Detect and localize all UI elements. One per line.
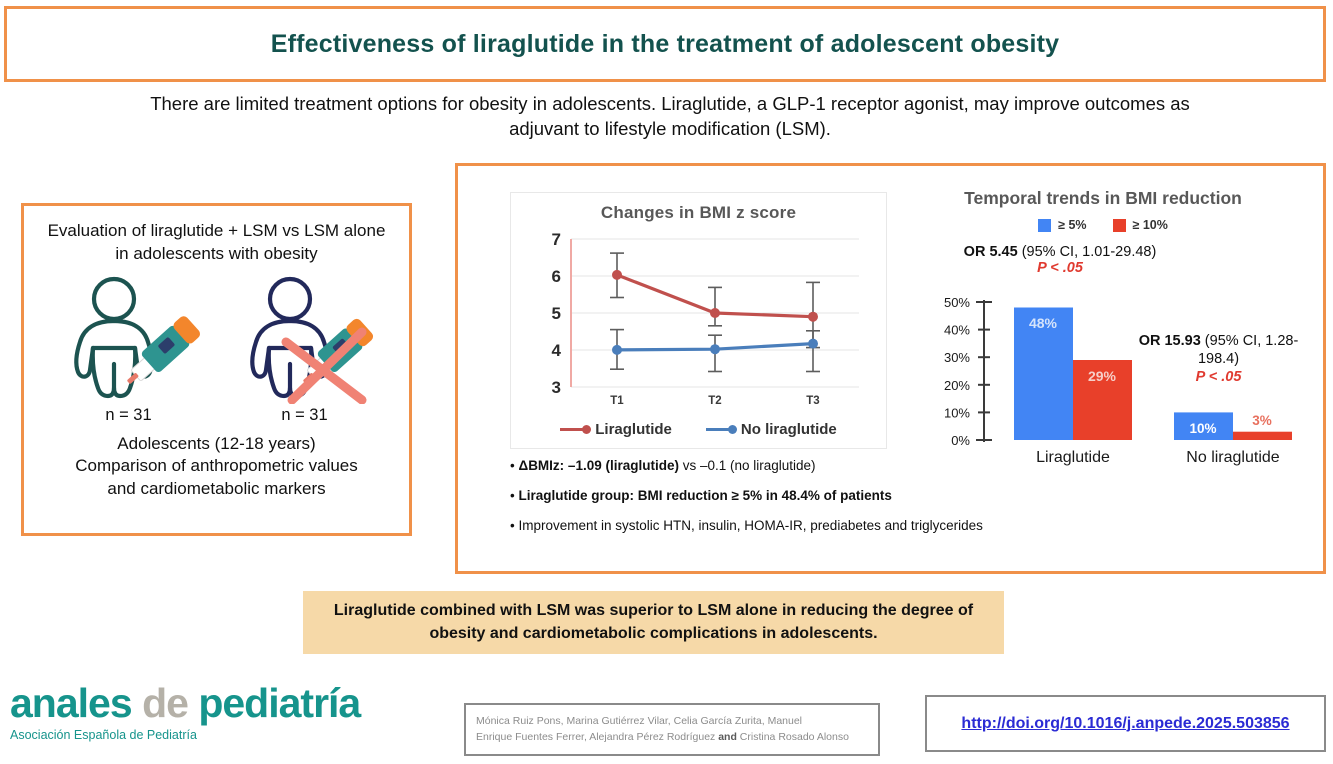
obese-person-with-crossed-out-injector-pen-icon xyxy=(230,272,380,404)
svg-text:30%: 30% xyxy=(944,350,970,365)
legend-label: No liraglutide xyxy=(741,421,837,438)
arm-n-label: n = 31 xyxy=(105,406,151,425)
study-design-panel: Evaluation of liraglutide + LSM vs LSM a… xyxy=(21,203,412,536)
bullet-item: • Improvement in systolic HTN, insulin, … xyxy=(510,518,1110,534)
arm-n-label: n = 31 xyxy=(281,406,327,425)
authors-line-2a: Enrique Fuentes Ferrer, Alejandra Pérez … xyxy=(476,731,718,743)
authors-line-1: Mónica Ruiz Pons, Marina Gutiérrez Vilar… xyxy=(476,715,802,727)
bar-label-10: 10% xyxy=(1189,421,1216,436)
or-value: OR 5.45 xyxy=(964,244,1018,260)
svg-text:T2: T2 xyxy=(708,395,721,407)
bullet-bold-part: ΔBMIz: –1.09 (liraglutide) xyxy=(518,458,678,473)
authors-conjunction: and xyxy=(718,731,737,743)
svg-text:10%: 10% xyxy=(944,405,970,420)
logo-word-pediatria: pediatría xyxy=(198,680,360,726)
y-axis-tick-labels: 50% 40% 30% 20% 10% 0% xyxy=(944,295,970,448)
obese-person-with-injector-pen-icon xyxy=(54,272,204,404)
legend-item-no-liraglutide: No liraglutide xyxy=(706,421,837,438)
logo-wordmark: anales de pediatría xyxy=(10,683,370,724)
legend-label: Liraglutide xyxy=(595,421,672,438)
logo-word-anales: anales xyxy=(10,680,132,726)
bullet-bold-part: Liraglutide group: BMI reduction ≥ 5% in… xyxy=(518,488,891,503)
or-value-line: OR 5.45 (95% CI, 1.01-29.48) xyxy=(910,244,1210,260)
page-title: Effectiveness of liraglutide in the trea… xyxy=(271,30,1060,59)
bar-chart-area: Temporal trends in BMI reduction ≥ 5% ≥ … xyxy=(898,184,1308,494)
bullet-item: • ΔBMIz: –1.09 (liraglutide) vs –0.1 (no… xyxy=(510,458,1110,474)
bar-label-3: 3% xyxy=(1252,413,1272,428)
title-banner: Effectiveness of liraglutide in the trea… xyxy=(4,6,1326,82)
svg-text:3: 3 xyxy=(552,378,561,397)
y-axis-tick-labels: 7 6 5 4 3 xyxy=(552,230,562,397)
svg-text:T3: T3 xyxy=(806,395,819,407)
legend-label: ≥ 10% xyxy=(1133,218,1168,232)
svg-text:20%: 20% xyxy=(944,378,970,393)
bar-label-48: 48% xyxy=(1029,315,1058,331)
infographic-root: Effectiveness of liraglutide in the trea… xyxy=(0,0,1333,764)
footer-line-2: Comparison of anthropometric values xyxy=(32,455,402,477)
line-chart-card: Changes in BMI z score 7 6 5 4 3 xyxy=(510,192,887,449)
study-design-footer: Adolescents (12-18 years) Comparison of … xyxy=(32,433,402,500)
conclusion-banner: Liraglutide combined with LSM was superi… xyxy=(303,591,1004,654)
bmi-z-score-line-chart: 7 6 5 4 3 xyxy=(511,227,886,407)
legend-dot-swatch xyxy=(582,425,591,434)
bar-no-liraglutide-ge10 xyxy=(1233,432,1292,440)
footer-line-3: and cardiometabolic markers xyxy=(32,478,402,500)
logo-word-de: de xyxy=(142,680,188,726)
legend-item-ge10: ≥ 10% xyxy=(1113,218,1168,232)
study-design-headline: Evaluation of liraglutide + LSM vs LSM a… xyxy=(39,220,394,266)
authors-list: Mónica Ruiz Pons, Marina Gutiérrez Vilar… xyxy=(466,714,859,746)
bmi-reduction-bar-chart: 50% 40% 30% 20% 10% 0% 48% 29% 10% 3% xyxy=(898,280,1308,480)
x-axis-tick-labels: T1 T2 T3 xyxy=(610,395,819,407)
svg-text:7: 7 xyxy=(552,230,561,249)
study-arm-liraglutide: n = 31 xyxy=(54,272,204,425)
svg-text:6: 6 xyxy=(552,267,561,286)
svg-text:50%: 50% xyxy=(944,295,970,310)
or-ci: (95% CI, 1.01-29.48) xyxy=(1018,244,1157,260)
legend-item-liraglutide: Liraglutide xyxy=(560,421,672,438)
legend-dot-swatch xyxy=(728,425,737,434)
doi-link[interactable]: http://doi.org/10.1016/j.anpede.2025.503… xyxy=(961,715,1289,733)
results-panel: Changes in BMI z score 7 6 5 4 3 xyxy=(455,163,1326,574)
bar-chart-title: Temporal trends in BMI reduction xyxy=(898,188,1308,209)
conclusion-text: Liraglutide combined with LSM was superi… xyxy=(303,600,1004,644)
bar-chart-legend: ≥ 5% ≥ 10% xyxy=(898,218,1308,232)
or-annotation-liraglutide: OR 5.45 (95% CI, 1.01-29.48) P < .05 xyxy=(910,244,1210,276)
legend-square-swatch xyxy=(1038,219,1051,232)
p-value: P < .05 xyxy=(910,260,1210,276)
svg-text:4: 4 xyxy=(552,341,562,360)
legend-label: ≥ 5% xyxy=(1058,218,1086,232)
footer-line-1: Adolescents (12-18 years) xyxy=(32,433,402,455)
doi-box: http://doi.org/10.1016/j.anpede.2025.503… xyxy=(925,695,1326,752)
bullet-rest-part: vs –0.1 (no liraglutide) xyxy=(679,458,816,473)
svg-text:5: 5 xyxy=(552,304,561,323)
authors-box: Mónica Ruiz Pons, Marina Gutiérrez Vilar… xyxy=(464,703,880,756)
line-chart-title: Changes in BMI z score xyxy=(511,203,886,223)
bullet-rest-part: Improvement in systolic HTN, insulin, HO… xyxy=(518,518,982,533)
study-arm-no-liraglutide: n = 31 xyxy=(230,272,380,425)
svg-text:T1: T1 xyxy=(610,395,624,407)
study-arms-figures: n = 31 xyxy=(54,272,380,425)
legend-item-ge5: ≥ 5% xyxy=(1038,218,1086,232)
journal-logo: anales de pediatría Asociación Española … xyxy=(10,683,370,742)
authors-line-2b: Cristina Rosado Alonso xyxy=(737,731,849,743)
bullet-item: • Liraglutide group: BMI reduction ≥ 5% … xyxy=(510,488,1110,504)
category-label-no-liraglutide: No liraglutide xyxy=(1186,449,1279,466)
bar-label-29: 29% xyxy=(1088,368,1117,384)
svg-text:0%: 0% xyxy=(951,433,970,448)
logo-subtitle: Asociación Española de Pediatría xyxy=(10,728,370,742)
subtitle-text: There are limited treatment options for … xyxy=(120,92,1220,142)
legend-square-swatch xyxy=(1113,219,1126,232)
findings-bullet-list: • ΔBMIz: –1.09 (liraglutide) vs –0.1 (no… xyxy=(510,458,1110,549)
svg-text:40%: 40% xyxy=(944,323,970,338)
line-chart-legend: Liraglutide No liraglutide xyxy=(511,421,886,438)
